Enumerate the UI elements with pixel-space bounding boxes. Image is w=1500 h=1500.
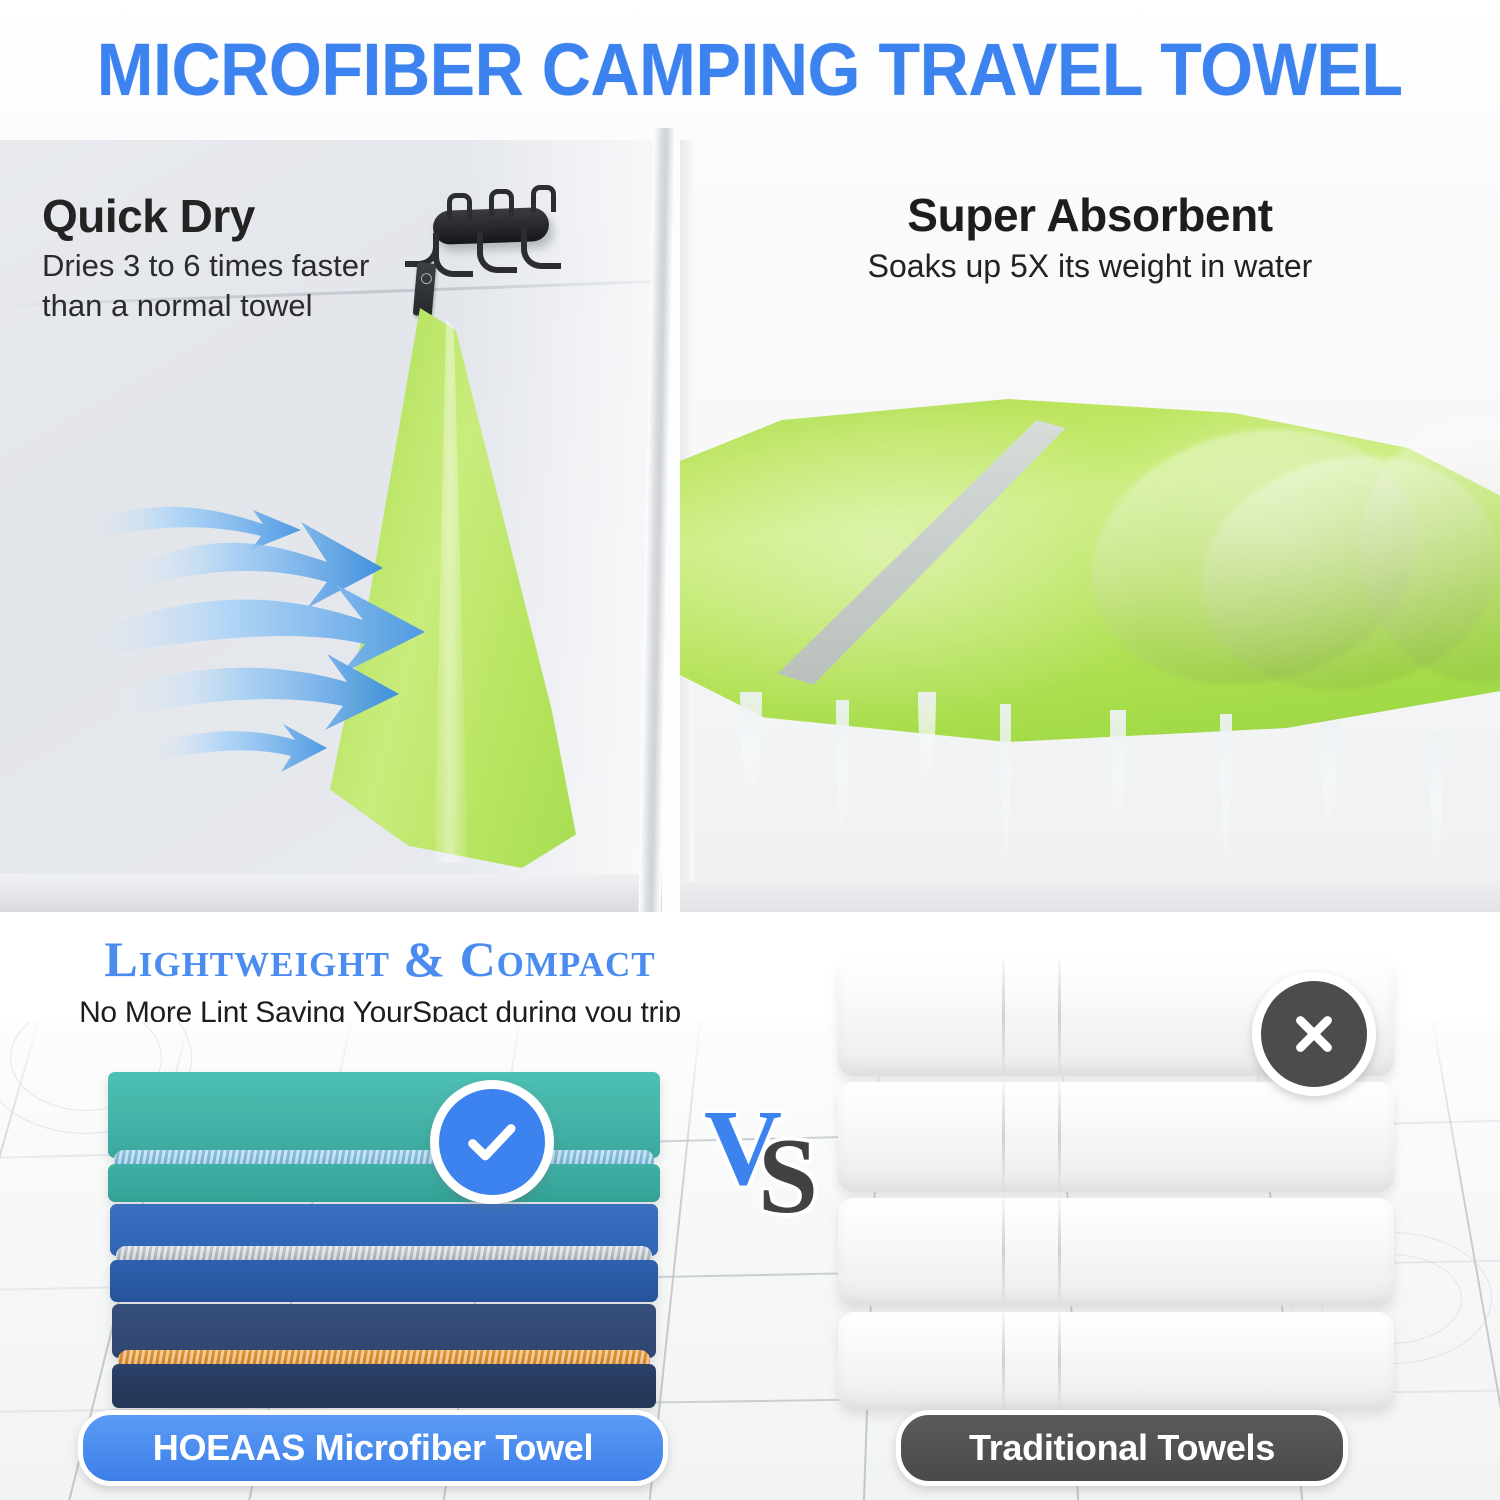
water-drip bbox=[918, 692, 936, 776]
quick-dry-floor bbox=[0, 874, 662, 912]
label-hoeaas-towel-text: HOEAAS Microfiber Towel bbox=[153, 1427, 593, 1469]
versus-s: S bbox=[758, 1123, 818, 1231]
label-traditional-towels-text: Traditional Towels bbox=[969, 1427, 1275, 1469]
wet-green-towel bbox=[680, 392, 1500, 762]
water-drip bbox=[1000, 704, 1011, 854]
hook-arm bbox=[521, 227, 561, 269]
title-bar: MICROFIBER CAMPING TRAVEL TOWEL bbox=[0, 0, 1500, 140]
comparison-text-block: Lightweight & Compact No More Lint Savin… bbox=[0, 930, 760, 1030]
towel-seam bbox=[1058, 1312, 1061, 1410]
label-traditional-towels: Traditional Towels bbox=[896, 1410, 1348, 1486]
airflow-arrows-icon bbox=[95, 480, 455, 780]
towel-royal-bottom bbox=[110, 1260, 658, 1302]
towel-seam bbox=[1058, 960, 1061, 1076]
quick-dry-heading: Quick Dry bbox=[42, 192, 369, 240]
white-towel bbox=[838, 1312, 1394, 1410]
panel-quick-dry: Quick Dry Dries 3 to 6 times faster than… bbox=[0, 140, 662, 912]
water-drip bbox=[1430, 732, 1443, 858]
white-towel bbox=[838, 1198, 1394, 1306]
hook-arm bbox=[477, 231, 517, 273]
towel-seam bbox=[1058, 1198, 1061, 1306]
hook-knob bbox=[447, 193, 472, 220]
super-absorbent-text-block: Super Absorbent Soaks up 5X its weight i… bbox=[680, 188, 1500, 285]
comparison-heading: Lightweight & Compact bbox=[0, 930, 760, 988]
water-drip bbox=[1110, 710, 1126, 822]
water-drip bbox=[836, 700, 849, 828]
towel-seam bbox=[1002, 1198, 1005, 1306]
towel-seam bbox=[1002, 1082, 1005, 1192]
towel-teal-bottom bbox=[108, 1164, 660, 1202]
airflow-arrow-svg bbox=[95, 480, 455, 780]
super-absorbent-body: Soaks up 5X its weight in water bbox=[680, 248, 1500, 285]
water-drip bbox=[1320, 722, 1338, 818]
super-absorbent-floor bbox=[680, 882, 1500, 912]
x-glyph bbox=[1285, 1005, 1343, 1063]
panel-super-absorbent: Super Absorbent Soaks up 5X its weight i… bbox=[680, 140, 1500, 912]
super-absorbent-heading: Super Absorbent bbox=[680, 188, 1500, 242]
page-title: MICROFIBER CAMPING TRAVEL TOWEL bbox=[97, 33, 1403, 107]
white-towel bbox=[838, 1082, 1394, 1192]
towel-navy-bottom bbox=[112, 1364, 656, 1408]
hook-knob bbox=[531, 185, 556, 212]
hook-knob bbox=[489, 189, 514, 216]
microfiber-towel-stack bbox=[108, 1072, 668, 1402]
label-hoeaas-towel: HOEAAS Microfiber Towel bbox=[78, 1410, 668, 1486]
towel-seam bbox=[1002, 960, 1005, 1076]
check-icon bbox=[430, 1080, 554, 1204]
x-icon bbox=[1252, 972, 1376, 1096]
check-glyph bbox=[461, 1111, 523, 1173]
versus-badge: V S bbox=[700, 1095, 850, 1255]
towel-seam bbox=[1058, 1082, 1061, 1192]
water-drip bbox=[740, 692, 762, 788]
infographic-page: MICROFIBER CAMPING TRAVEL TOWEL Quick Dr… bbox=[0, 0, 1500, 1500]
water-drip bbox=[1220, 714, 1232, 852]
quick-dry-text-block: Quick Dry Dries 3 to 6 times faster than… bbox=[42, 192, 369, 326]
hook-arm bbox=[433, 235, 473, 277]
towel-seam bbox=[1002, 1312, 1005, 1410]
towel-teal-top bbox=[108, 1072, 660, 1158]
